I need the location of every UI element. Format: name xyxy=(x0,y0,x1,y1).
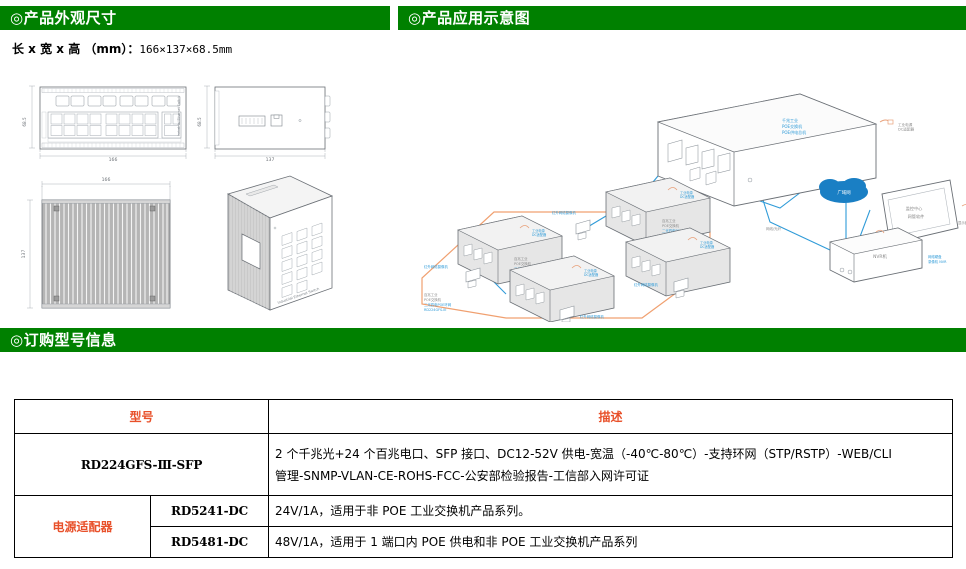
table-row: RD224GFS-Ⅲ-SFP 2 个千兆光+24 个百兆电口、SFP 接口、DC… xyxy=(15,434,953,496)
svg-text:DC适配器: DC适配器 xyxy=(680,194,695,199)
product-dimension-drawings: Industrial Ethernet Switch 68.5 166 xyxy=(0,78,392,323)
model-name-adapter-48v: RD5481-DC xyxy=(151,527,269,558)
access-switch-4-label-2: POE交换机 xyxy=(424,297,442,302)
wan-cloud-icon: 广域网 xyxy=(819,178,868,203)
side-view-width-label: 137 xyxy=(266,157,275,163)
description-line-2: 管理-SNMP-VLAN-CE-ROHS-FCC-公安部检验报告-工信部入网许可… xyxy=(275,465,946,487)
dimension-text-line: 长 x 宽 x 高 （mm）：166×137×68.5mm xyxy=(12,40,232,57)
section-header-application: ◎产品应用示意图 xyxy=(398,6,966,30)
side-view-height-label: 68.5 xyxy=(197,117,202,127)
access-switch-2-label-1: 百兆工业 xyxy=(514,256,528,261)
access-switch-4-label-4: RD224GFS-III xyxy=(424,308,446,312)
access-switch-1-label-2: POE交换机 xyxy=(662,223,680,228)
section-header-ordering: ◎订购型号信息 xyxy=(0,328,966,352)
description-line-1: 2 个千兆光+24 个百兆电口、SFP 接口、DC12-52V 供电-宽温（-4… xyxy=(275,443,946,465)
model-description-adapter-48v: 48V/1A，适用于 1 端口内 POE 供电和非 POE 工业交换机产品系列 xyxy=(269,527,953,558)
section-header-ordering-label: ◎订购型号信息 xyxy=(10,331,117,349)
monitor-callout-label: 显示器 xyxy=(958,221,966,225)
core-switch-label-2: POE交换机 xyxy=(782,123,802,129)
front-view-height-label: 68.5 xyxy=(22,117,27,127)
monitoring-center-label-2: 网管软件 xyxy=(908,213,925,220)
access-switch-2-label-2: POE交换机 xyxy=(514,261,532,266)
top-view-width-label: 166 xyxy=(102,177,111,183)
svg-text:DC适配器: DC适配器 xyxy=(532,232,547,237)
model-description-adapter-24v: 24V/1A，适用于非 POE 工业交换机产品系列。 xyxy=(269,496,953,527)
group-label-power-adapter: 电源适配器 xyxy=(15,496,151,558)
top-view-height-label: 137 xyxy=(21,250,27,259)
front-view-width-label: 166 xyxy=(109,157,118,163)
access-switch-4-label-3: 二光四电POE环网 xyxy=(424,302,452,307)
front-view-silk-caption: Industrial Ethernet Switch xyxy=(177,96,181,136)
svg-text:DC适配器: DC适配器 xyxy=(584,272,599,277)
model-description-main: 2 个千兆光+24 个百兆电口、SFP 接口、DC12-52V 供电-宽温（-4… xyxy=(269,434,953,496)
drawing-isometric-view: Industrial Ethernet Switch xyxy=(212,170,347,320)
camera-4-label: 红外网络摄像机 xyxy=(580,314,604,319)
core-power-adapter: 工业电源 DC适配器 xyxy=(880,120,914,132)
drawing-top-view: 166 137 xyxy=(18,170,198,320)
model-name-main: RD224GFS-Ⅲ-SFP xyxy=(15,434,269,496)
section-header-dimensions-label: ◎产品外观尺寸 xyxy=(10,9,117,27)
core-switch-label-1: 千兆工业 xyxy=(782,117,798,123)
camera-1-label: 红外网络摄像机 xyxy=(552,210,576,215)
camera-3-label: 红外网络摄像机 xyxy=(634,282,658,287)
camera-2-label: 红外网络摄像机 xyxy=(424,264,448,269)
core-power-adapter-label: 工业电源 xyxy=(898,122,913,127)
section-header-dimensions: ◎产品外观尺寸 xyxy=(0,6,390,30)
nvr-device: NVR机 网络硬盘 录像机 NVR xyxy=(830,228,947,282)
svg-text:DC适配器: DC适配器 xyxy=(700,244,715,249)
application-topology-diagram: 千兆工业 POE交换机 POE供电总机 工业电源 DC适配器 广域网 监控中心 … xyxy=(410,82,966,322)
access-switch-4-label-1: 百兆工业 xyxy=(424,292,438,297)
section-header-application-label: ◎产品应用示意图 xyxy=(408,9,530,27)
drawing-front-view: Industrial Ethernet Switch 68.5 166 xyxy=(18,82,208,168)
core-switch-label-3: POE供电总机 xyxy=(782,129,806,135)
table-row: RD5481-DC 48V/1A，适用于 1 端口内 POE 供电和非 POE … xyxy=(15,527,953,558)
svg-text:DC适配器: DC适配器 xyxy=(898,127,914,132)
table-header-row: 型号 描述 xyxy=(15,400,953,434)
column-header-description: 描述 xyxy=(269,400,953,434)
column-header-model: 型号 xyxy=(15,400,269,434)
svg-text:录像机 NVR: 录像机 NVR xyxy=(928,259,947,264)
nvr-callout-label: 网络硬盘 xyxy=(928,254,942,259)
drawing-side-view: 68.5 137 xyxy=(195,82,345,168)
dimension-value: 166×137×68.5mm xyxy=(139,43,232,56)
dimension-label: 长 x 宽 x 高 （mm）： xyxy=(12,42,139,56)
access-switch-1-label-1: 百兆工业 xyxy=(662,218,676,223)
ordering-information-table: 型号 描述 RD224GFS-Ⅲ-SFP 2 个千兆光+24 个百兆电口、SFP… xyxy=(14,399,953,558)
link-label-fiber: 网线/光纤 xyxy=(766,226,782,231)
monitoring-center-label-1: 监控中心 xyxy=(906,205,924,212)
wan-cloud-label: 广域网 xyxy=(837,189,851,196)
model-name-adapter-24v: RD5241-DC xyxy=(151,496,269,527)
table-row: 电源适配器 RD5241-DC 24V/1A，适用于非 POE 工业交换机产品系… xyxy=(15,496,953,527)
nvr-label: NVR机 xyxy=(873,253,887,260)
